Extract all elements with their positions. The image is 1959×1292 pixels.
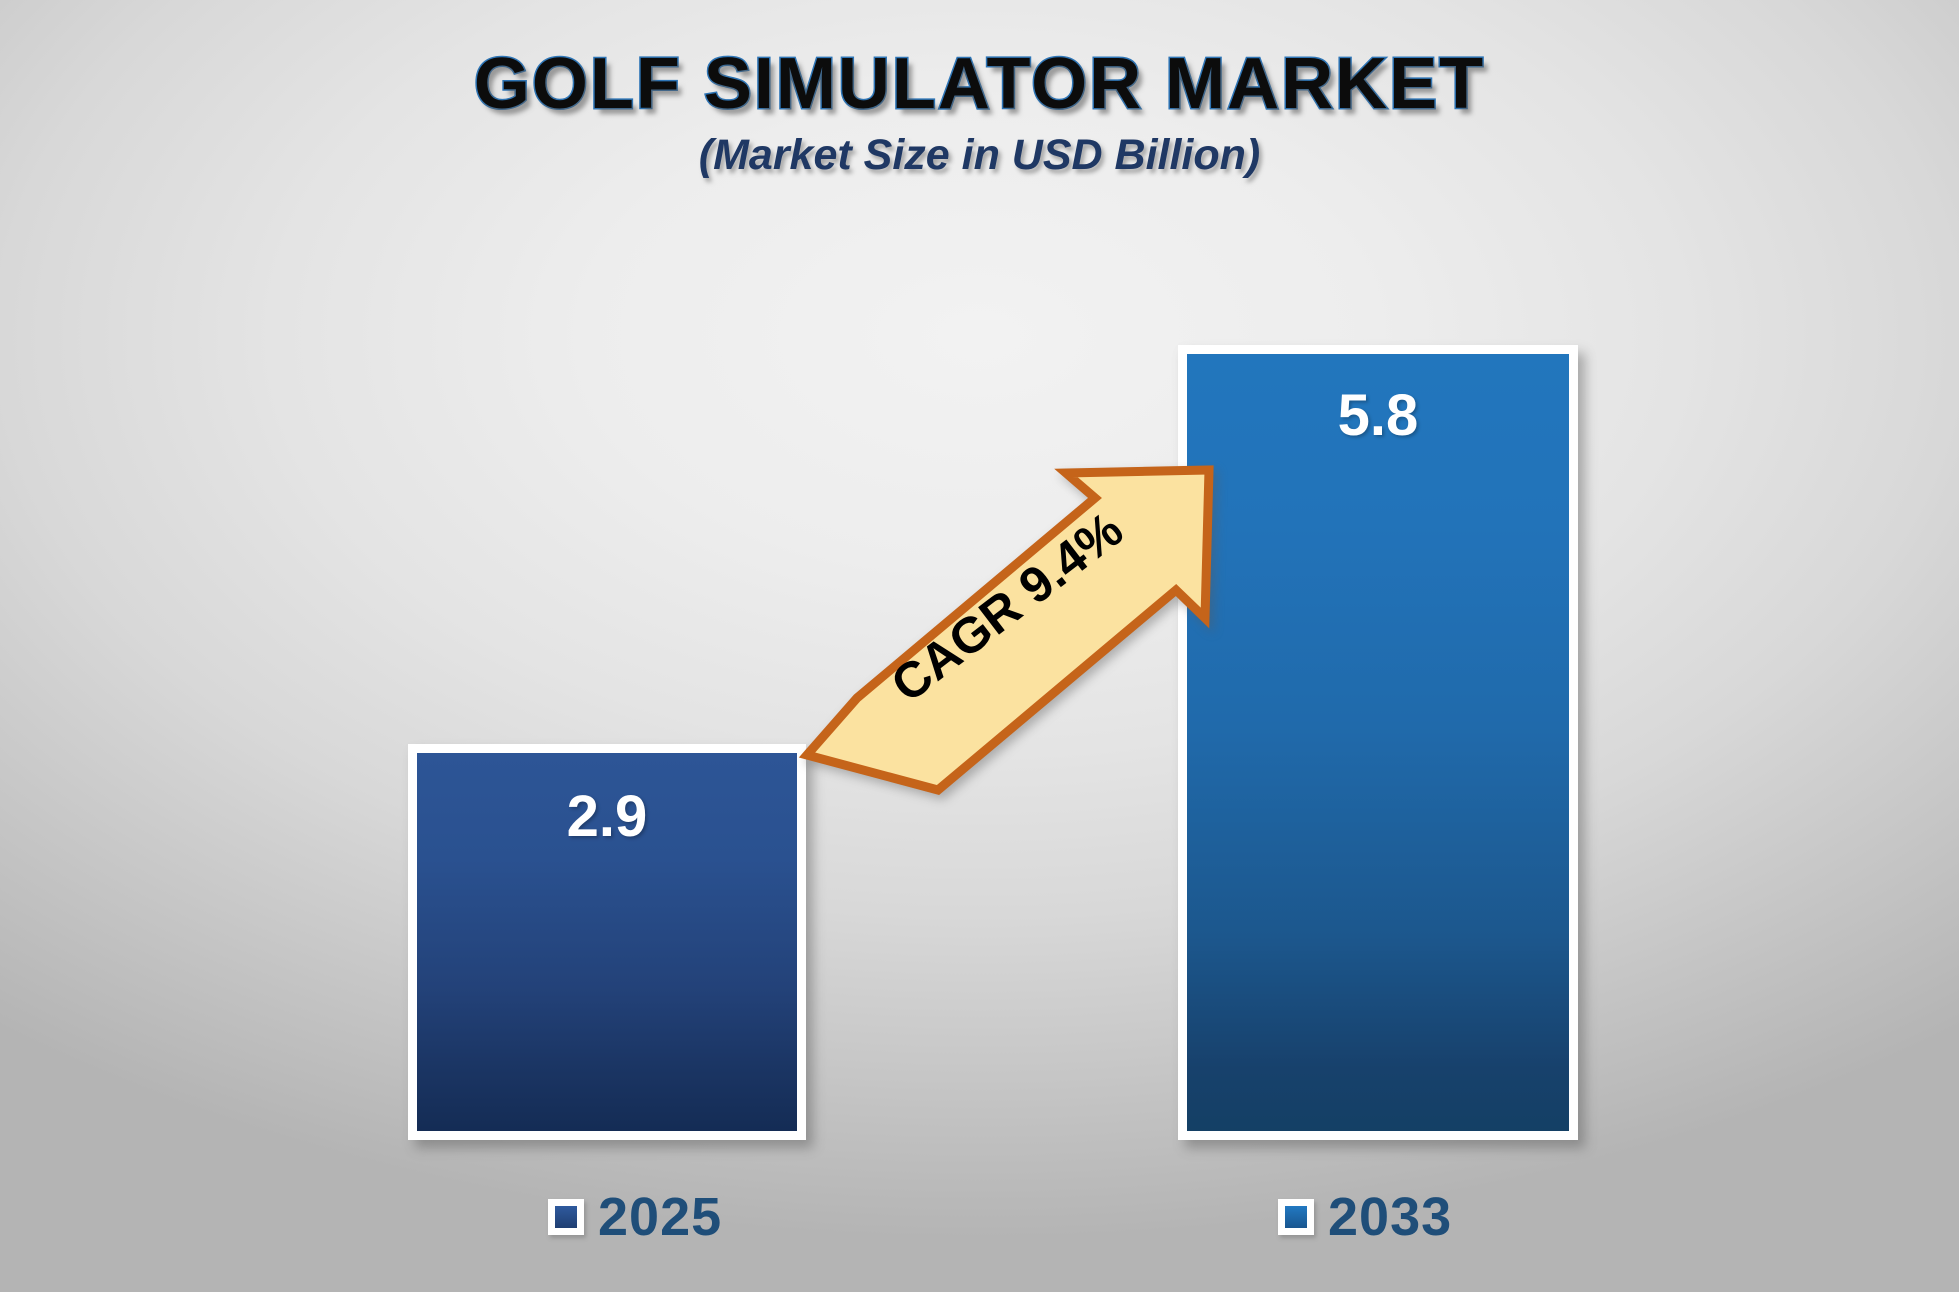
bar-2033-value-label: 5.8	[1187, 382, 1569, 449]
legend-swatch-2025-icon	[548, 1199, 584, 1235]
bar-2033: 5.8	[1178, 345, 1578, 1140]
bar-2025-fill: 2.9	[417, 753, 797, 1131]
legend-swatch-2033-icon	[1278, 1199, 1314, 1235]
bar-2033-fill: 5.8	[1187, 354, 1569, 1131]
cagr-label: CAGR 9.4%	[858, 484, 1155, 731]
legend-item-2033[interactable]: 2033	[1278, 1186, 1452, 1248]
legend-label-2025: 2025	[598, 1186, 722, 1248]
chart-title: GOLF SIMULATOR MARKET	[0, 48, 1959, 121]
chart-header: GOLF SIMULATOR MARKET (Market Size in US…	[0, 48, 1959, 180]
chart-subtitle: (Market Size in USD Billion)	[0, 131, 1959, 180]
bar-2025: 2.9	[408, 744, 806, 1140]
bar-2025-value-label: 2.9	[417, 783, 797, 850]
chart-canvas: GOLF SIMULATOR MARKET (Market Size in US…	[0, 0, 1959, 1292]
legend-item-2025[interactable]: 2025	[548, 1186, 722, 1248]
legend-label-2033: 2033	[1328, 1186, 1452, 1248]
